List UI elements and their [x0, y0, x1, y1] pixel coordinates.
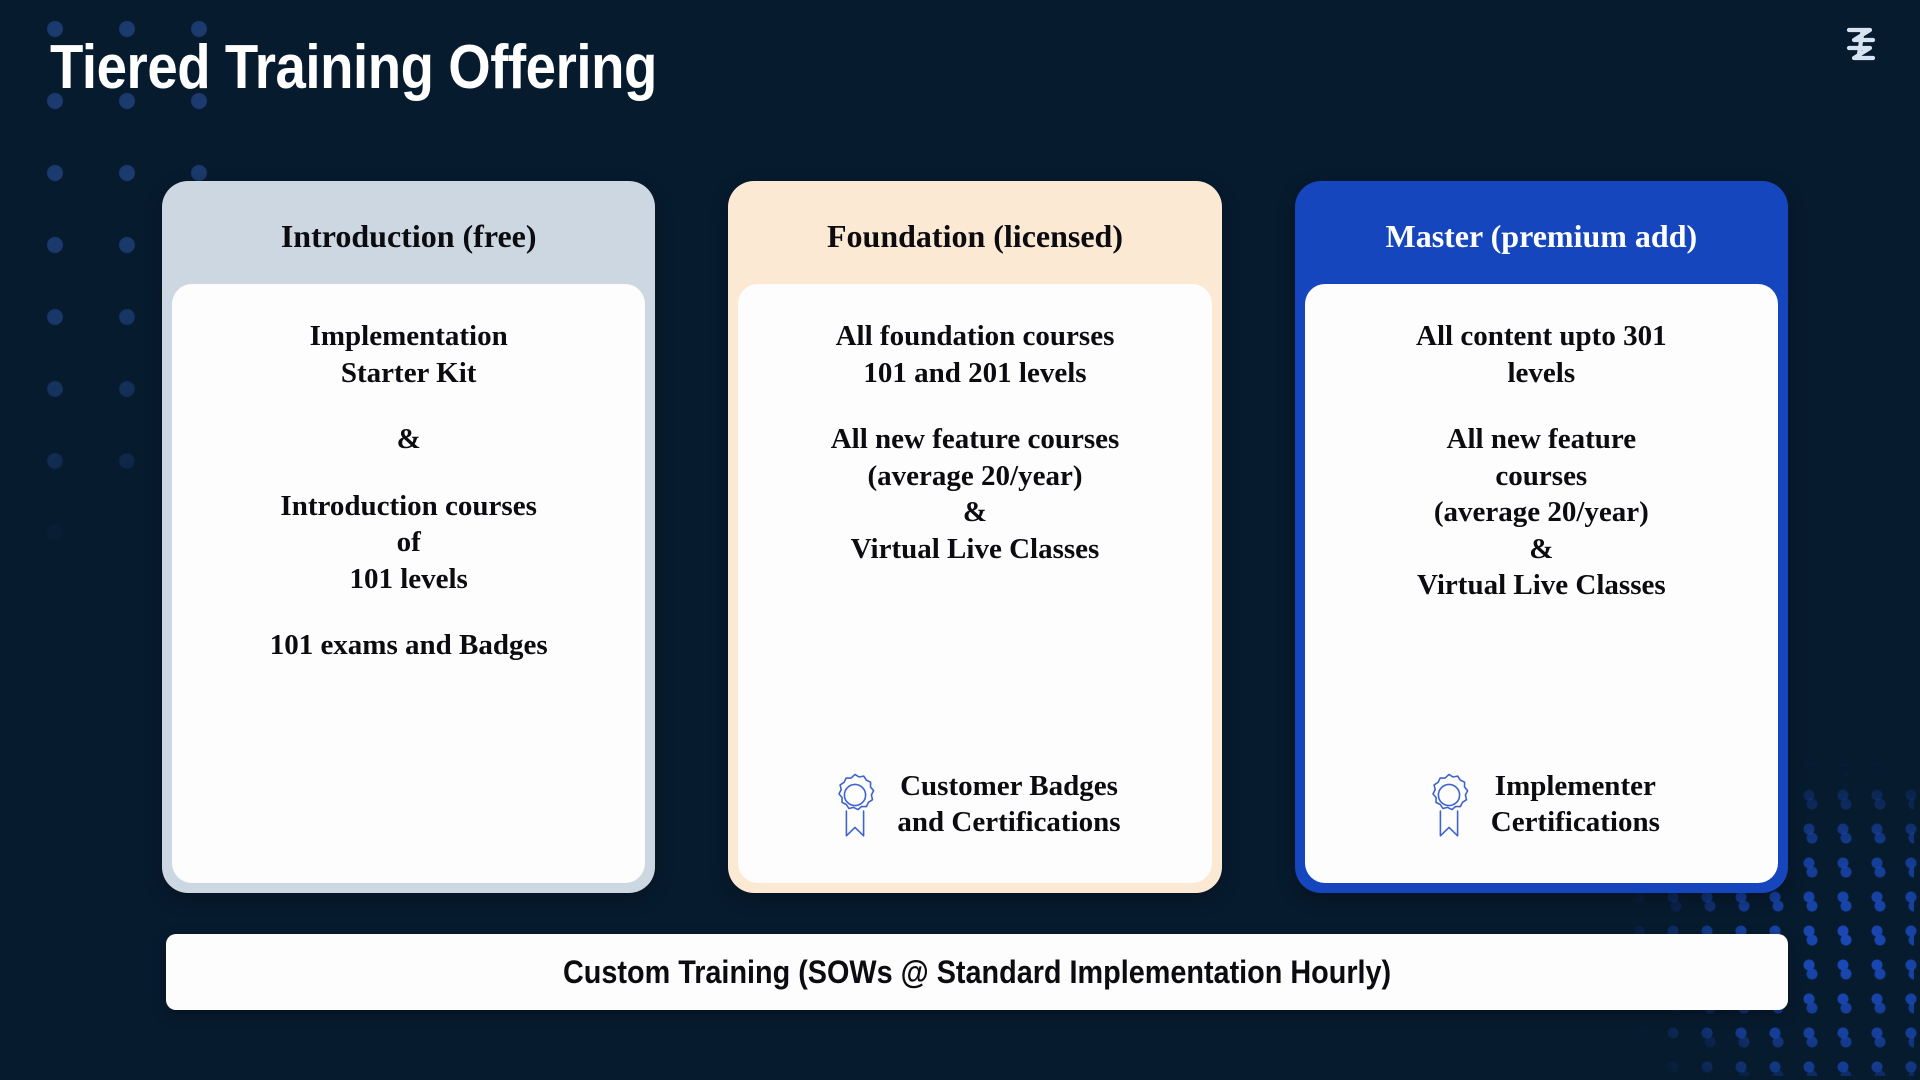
tier-card-master[interactable]: Master (premium add) All content upto 30…	[1295, 181, 1788, 893]
tier-card-introduction[interactable]: Introduction (free) Implementation Start…	[162, 181, 655, 893]
certification-badge-row: Implementer Certifications	[1327, 769, 1756, 863]
award-ribbon-icon	[1423, 771, 1475, 839]
page-title: Tiered Training Offering	[50, 36, 657, 99]
tier-card-body-introduction: Implementation Starter Kit & Introductio…	[172, 284, 645, 883]
certification-badge-row: Customer Badges and Certifications	[760, 769, 1189, 863]
custom-training-bar[interactable]: Custom Training (SOWs @ Standard Impleme…	[166, 934, 1788, 1010]
tier-card-body-foundation: All foundation courses 101 and 201 level…	[738, 284, 1211, 883]
tier-card-foundation[interactable]: Foundation (licensed) All foundation cou…	[728, 181, 1221, 893]
feature-text-block: 101 exams and Badges	[270, 627, 548, 664]
tier-card-title-master: Master (premium add)	[1305, 191, 1778, 284]
zuora-logo-icon	[1833, 17, 1887, 71]
tier-card-title-foundation: Foundation (licensed)	[738, 191, 1211, 284]
tier-card-title-introduction: Introduction (free)	[172, 191, 645, 284]
tier-card-body-master: All content upto 301 levels All new feat…	[1305, 284, 1778, 883]
feature-text-block: All content upto 301 levels	[1416, 318, 1667, 391]
feature-text-block: All new feature courses (average 20/year…	[1417, 421, 1666, 604]
feature-text-block: &	[397, 421, 421, 458]
tier-cards-row: Introduction (free) Implementation Start…	[162, 181, 1788, 893]
certification-badge-label: Implementer Certifications	[1491, 769, 1660, 841]
feature-text-block: All foundation courses 101 and 201 level…	[836, 318, 1115, 391]
custom-training-label: Custom Training (SOWs @ Standard Impleme…	[563, 954, 1391, 991]
award-ribbon-icon	[829, 771, 881, 839]
feature-text-block: Implementation Starter Kit	[310, 318, 508, 391]
certification-badge-label: Customer Badges and Certifications	[897, 769, 1120, 841]
feature-text-block: All new feature courses (average 20/year…	[831, 421, 1120, 567]
feature-text-block: Introduction courses of 101 levels	[280, 488, 536, 598]
